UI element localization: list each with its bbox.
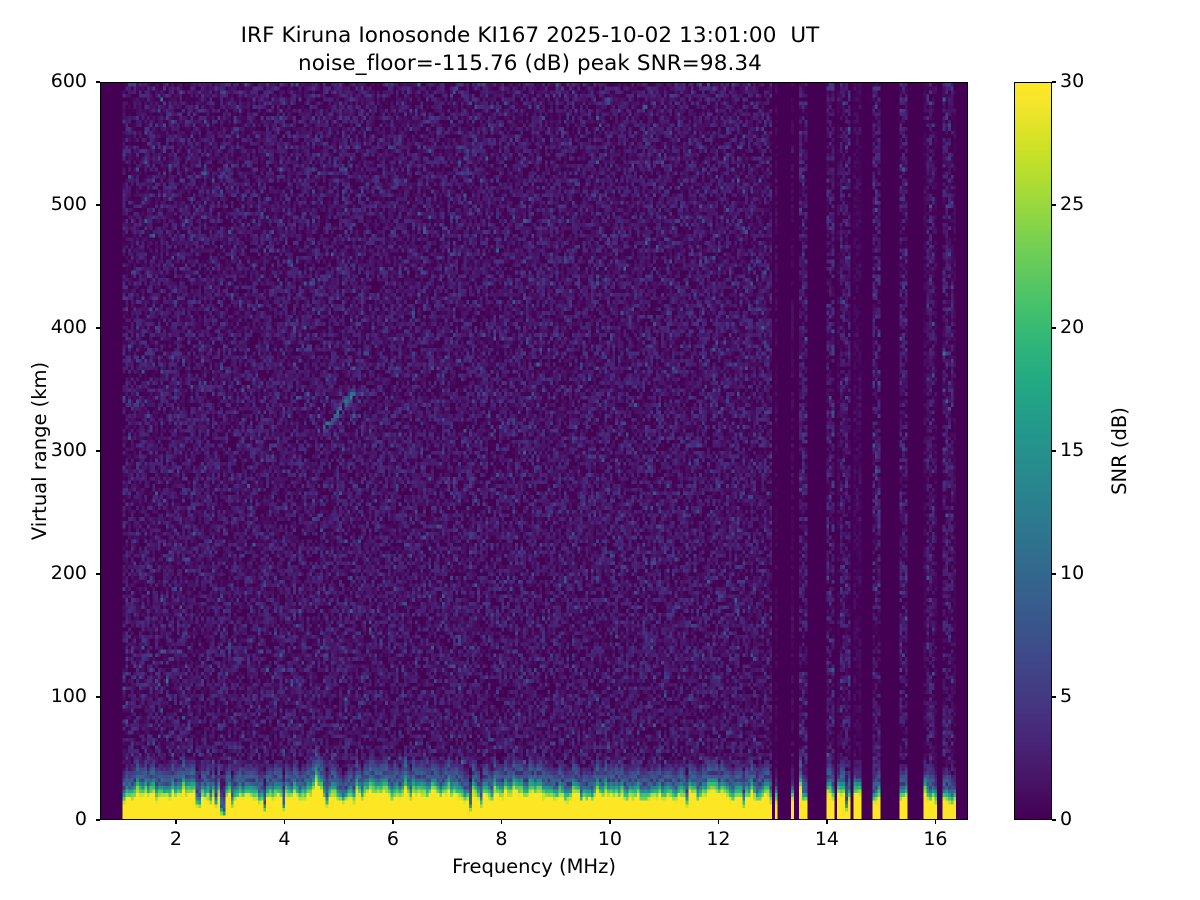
x-tick-mark xyxy=(501,820,502,824)
title-line-1: IRF Kiruna Ionosonde KI167 2025-10-02 13… xyxy=(0,22,1060,50)
title-line-2: noise_floor=-115.76 (dB) peak SNR=98.34 xyxy=(0,50,1060,78)
y-tick-label: 200 xyxy=(51,562,87,584)
y-tick-label: 400 xyxy=(51,316,87,338)
y-tick-label: 300 xyxy=(51,439,87,461)
x-tick-label: 2 xyxy=(146,828,206,850)
y-tick-mark xyxy=(96,81,100,82)
x-tick-label: 14 xyxy=(797,828,857,850)
y-tick-mark xyxy=(96,204,100,205)
y-tick-mark xyxy=(96,573,100,574)
colorbar-tick-mark xyxy=(1052,327,1056,328)
colorbar-tick-label: 20 xyxy=(1060,316,1084,338)
colorbar-tick-label: 0 xyxy=(1060,808,1072,830)
y-tick-mark xyxy=(96,327,100,328)
colorbar-tick-mark xyxy=(1052,819,1056,820)
y-tick-mark xyxy=(96,696,100,697)
y-tick-label: 100 xyxy=(51,685,87,707)
x-axis-label: Frequency (MHz) xyxy=(100,855,968,878)
y-tick-mark xyxy=(96,450,100,451)
colorbar-tick-mark xyxy=(1052,696,1056,697)
colorbar-tick-label: 30 xyxy=(1060,70,1084,92)
colorbar-tick-mark xyxy=(1052,573,1056,574)
x-tick-mark xyxy=(392,820,393,824)
y-tick-label: 500 xyxy=(51,193,87,215)
x-tick-label: 4 xyxy=(254,828,314,850)
ionogram-plot-area xyxy=(100,82,968,820)
x-tick-mark xyxy=(609,820,610,824)
colorbar-tick-label: 5 xyxy=(1060,685,1072,707)
y-tick-label: 600 xyxy=(51,70,87,92)
y-axis-label: Virtual range (km) xyxy=(28,82,51,820)
x-tick-label: 16 xyxy=(905,828,965,850)
x-tick-label: 12 xyxy=(688,828,748,850)
colorbar-label: SNR (dB) xyxy=(1108,82,1131,820)
x-tick-mark xyxy=(935,820,936,824)
x-tick-mark xyxy=(175,820,176,824)
x-tick-label: 8 xyxy=(471,828,531,850)
ionogram-figure: IRF Kiruna Ionosonde KI167 2025-10-02 13… xyxy=(0,0,1200,900)
figure-title: IRF Kiruna Ionosonde KI167 2025-10-02 13… xyxy=(0,22,1060,79)
colorbar-tick-mark xyxy=(1052,450,1056,451)
colorbar-tick-mark xyxy=(1052,81,1056,82)
colorbar-tick-label: 25 xyxy=(1060,193,1084,215)
x-tick-label: 10 xyxy=(580,828,640,850)
colorbar-gradient xyxy=(1015,83,1051,819)
x-tick-mark xyxy=(826,820,827,824)
y-tick-label: 0 xyxy=(75,808,87,830)
x-tick-mark xyxy=(718,820,719,824)
colorbar-tick-label: 15 xyxy=(1060,439,1084,461)
x-tick-label: 6 xyxy=(363,828,423,850)
colorbar-tick-mark xyxy=(1052,204,1056,205)
colorbar-tick-label: 10 xyxy=(1060,562,1084,584)
colorbar xyxy=(1014,82,1052,820)
ionogram-heatmap xyxy=(101,83,967,819)
y-tick-mark xyxy=(96,819,100,820)
x-tick-mark xyxy=(284,820,285,824)
